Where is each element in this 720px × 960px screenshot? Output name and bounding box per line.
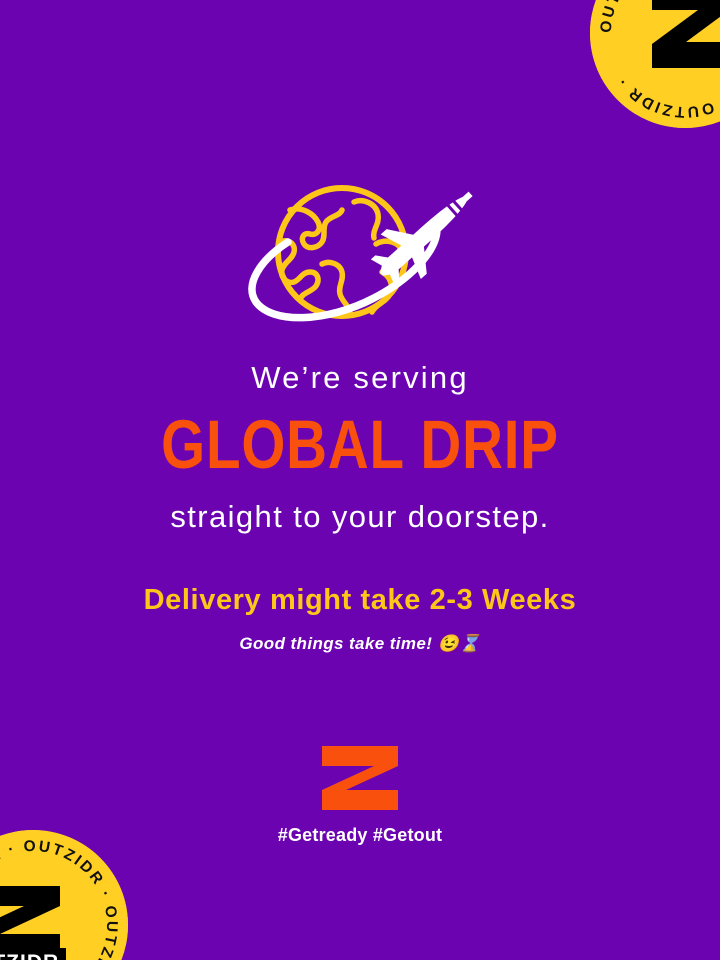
brand-z-logo (320, 744, 400, 812)
subline-text: straight to your doorstep. (0, 501, 720, 532)
eyebrow-text: We’re serving (0, 362, 720, 393)
airplane-icon (361, 172, 490, 297)
copy-block: We’re serving GLOBAL DRIP straight to yo… (0, 362, 720, 652)
delivery-notice: Delivery might take 2-3 Weeks (0, 586, 720, 615)
badge-wordmark: OUTZIDR (0, 948, 66, 960)
globe-artwork (230, 172, 490, 344)
badge-bottom-left: OUTZIDR · OUTZIDR · OUTZIDR · OUTZIDR · … (0, 830, 128, 960)
globe-icon (278, 188, 406, 316)
badge-wordmark-text: OUTZIDR (0, 951, 59, 960)
tagline-text: Good things take time! 😉⌛ (0, 635, 720, 652)
badge-top-right: OUTZIDR · OUTZIDR · OUTZIDR · OUTZIDR · (590, 0, 720, 128)
page-title: GLOBAL DRIP (65, 410, 655, 479)
footer-lockup: #Getready #Getout (0, 744, 720, 844)
poster-canvas: OUTZIDR · OUTZIDR · OUTZIDR · OUTZIDR · (0, 0, 720, 960)
